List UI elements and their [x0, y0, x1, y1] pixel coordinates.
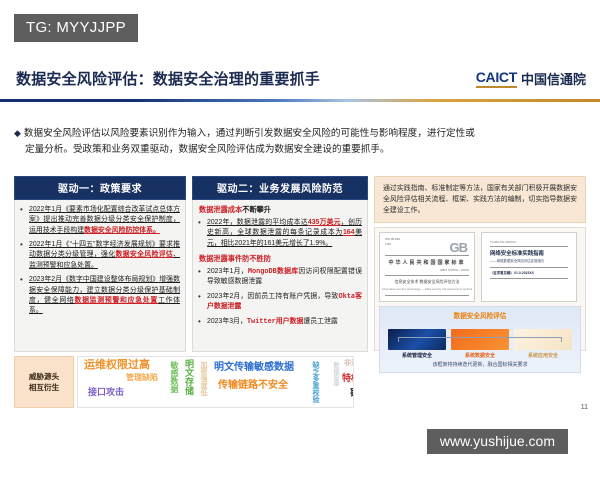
threat-word: 窃听 [350, 389, 354, 399]
item-highlight: 435万美元 [308, 219, 341, 226]
breach-events-list: 2023年1月，MongoDB数据库因访问权限配置错误导致敏感数据泄露 2023… [198, 267, 362, 327]
list-item: 2022年，数据泄露的平均成本达435万美元，创历史新高，全球数据泄露的每条记录… [198, 218, 362, 249]
doc2-title: 网络安全标准实践指南 [490, 249, 544, 257]
doc1-subject: 信息安全技术 数据安全风险评估方法 [380, 279, 474, 285]
threat-word: 缺乏多重校验 [312, 361, 319, 403]
gb-mark-icon: GB [450, 240, 468, 255]
page-number: 11 [581, 404, 588, 411]
breach-cost-list: 2022年，数据泄露的平均成本达435万美元，创历史新高，全球数据泄露的每条记录… [198, 218, 362, 249]
list-item: 2023年2月《数字中国建设整体布局规划》增强数据安全保障能力，建立数据分类分级… [20, 275, 180, 316]
framework-label: 系统管理安全 [388, 352, 446, 359]
threat-word: 特权盗用 [342, 374, 354, 383]
framework-footnote: 该框架将持续迭代更新，融合国标相关要求 [384, 361, 576, 368]
framework-item-data[interactable]: 系统数据安全 [451, 329, 509, 359]
column-policy-drivers: 驱动一：政策要求 2022年1月《要素市场化配置综合改革试点总体方案》提出推动完… [14, 176, 186, 352]
doc1-english-title: Information security technology — Data s… [380, 287, 474, 291]
threat-word: 数据投毒 [332, 362, 338, 386]
doc1-standard-number: GB/T XXXXX—XXXX [440, 269, 469, 273]
threat-word: 明文传输敏感数据 [214, 363, 294, 373]
threat-word-cloud: 运维权限过高管理缺陷接口攻击敏感数据明文存储加密强度低明文传输敏感数据传输链路不… [77, 356, 354, 408]
slide-header: 数据安全风险评估：数据安全治理的重要抓手 CAICT 中国信通院 [0, 60, 600, 100]
document-thumbnail-practice-guide[interactable]: TC260-PG-2023XX 网络安全标准实践指南 ——网络数据安全风险评估实… [481, 232, 577, 302]
threat-label-line2: 相互衍生 [29, 383, 59, 392]
threat-label-line1: 威胁源头 [29, 372, 59, 381]
three-column-area: 驱动一：政策要求 2022年1月《要素市场化配置综合改革试点总体方案》提出推动完… [14, 176, 586, 352]
item-text: 2022年，数据泄露的平均成本达 [207, 219, 308, 226]
doc1-title: 中华人民共和国国家标准 [380, 259, 474, 266]
watermark-tag-top: TG: MYYJJPP [14, 14, 138, 42]
diamond-bullet-icon: ◆ [14, 128, 21, 138]
caict-logo: CAICT 中国信通院 [476, 69, 586, 88]
item-highlight-2: 164 [343, 229, 355, 236]
threat-word: 接口攻击 [88, 388, 124, 397]
doc2-subtitle: ——网络数据安全风险评估实施指引 [490, 258, 544, 263]
item-text: 2023年3月， [207, 318, 247, 325]
intro-paragraph: ◆数据安全风险评估以风险要素识别作为输入，通过判断引发数据安全风险的可能性与影响… [14, 126, 586, 158]
breach-events-subheading: 数据泄露事件防不胜防 [199, 254, 362, 264]
watermark-url: www.yushijue.com [427, 429, 568, 454]
framework-item-application[interactable]: 系统应用安全 [514, 329, 572, 359]
column-business-risk: 驱动二：业务发展风险防范 数据泄露成本不断攀升 2022年，数据泄露的平均成本达… [192, 176, 368, 352]
doc2-code: TC260-PG-2023XX [490, 240, 516, 244]
list-item: 2022年1月《要素市场化配置综合改革试点总体方案》提出推动完善数据分级分类安全… [20, 205, 180, 236]
threat-word: 非法访问 [344, 360, 354, 367]
item-text: 2023年2月，因前员工持有账户凭据，导致 [207, 293, 338, 300]
intro-line-1: ◆数据安全风险评估以风险要素识别作为输入，通过判断引发数据安全风险的可能性与影响… [14, 126, 586, 142]
intro-text-2: 定量分析。受政策和业务双重驱动，数据安全风险评估成为数据安全建设的重要抓手。 [14, 142, 586, 158]
page-title: 数据安全风险评估：数据安全治理的重要抓手 [16, 68, 320, 89]
threat-word: 管理缺陷 [126, 374, 158, 382]
item-highlight: 数据监测预警和应急处置 [75, 297, 158, 304]
threat-word: 传输链路不安全 [218, 381, 288, 391]
subheading-red: 数据泄露成本 [199, 205, 242, 214]
threat-word: 明文存储 [184, 359, 193, 395]
list-item: 2023年2月，因前员工持有账户凭据，导致Okta客户数据泄露 [198, 292, 362, 313]
standards-panel: ICS 35.040 L 80 GB 中华人民共和国国家标准 GB/T XXXX… [374, 227, 586, 351]
document-thumbnails: ICS 35.040 L 80 GB 中华人民共和国国家标准 GB/T XXXX… [379, 232, 581, 302]
doc1-class-code: L 80 [385, 243, 391, 247]
threat-word: 加密强度低 [200, 361, 207, 396]
item-highlight: MongoDB数据库 [248, 268, 298, 276]
column-b-body: 数据泄露成本不断攀升 2022年，数据泄露的平均成本达435万美元，创历史新高，… [192, 200, 368, 352]
slide-canvas: 数据安全风险评估：数据安全治理的重要抓手 CAICT 中国信通院 ◆数据安全风险… [0, 60, 600, 420]
doc2-version: （征求意见稿）V1.0-2023XX [490, 270, 534, 275]
column-a-body: 2022年1月《要素市场化配置综合改革试点总体方案》提出推动完善数据分级分类安全… [14, 200, 186, 352]
intro-text-1: 数据安全风险评估以风险要素识别作为输入，通过判断引发数据安全风险的可能性与影响程… [24, 128, 475, 139]
threat-word: 运维权限过高 [84, 360, 150, 371]
column-b-heading: 驱动二：业务发展风险防范 [192, 176, 368, 200]
list-item: 2022年1月《“十四五”数字经济发展规划》要求推动数据分类分级管理，强化数据安… [20, 240, 180, 271]
framework-connector-lines [398, 337, 562, 342]
column-standards: 通过实践指南、标准制定等方法，国家有关部门积极开展数据安全风险评估相关流程、框架… [374, 176, 586, 351]
framework-item-management[interactable]: 系统管理安全 [388, 329, 446, 359]
threat-source-band: 威胁源头 相互衍生 运维权限过高管理缺陷接口攻击敏感数据明文存储加密强度低明文传… [14, 356, 354, 408]
threat-word: 敏感数据 [170, 361, 178, 393]
framework-diagram: 数据安全风险评估 系统管理安全 系统数据安全 [379, 306, 581, 373]
item-highlight: Twitter用户数据 [247, 318, 304, 326]
column-a-heading: 驱动一：政策要求 [14, 176, 186, 200]
framework-label: 系统数据安全 [451, 352, 509, 359]
framework-label: 系统应用安全 [514, 352, 572, 359]
breach-cost-subheading: 数据泄露成本不断攀升 [199, 205, 362, 215]
logo-latin-text: CAICT [476, 69, 517, 88]
list-item: 2023年3月，Twitter用户数据遭员工泄露 [198, 317, 362, 327]
list-item: 2023年1月，MongoDB数据库因访问权限配置错误导致敏感数据泄露 [198, 267, 362, 288]
item-highlight: 数据安全风险防控体系。 [84, 227, 160, 234]
policy-list: 2022年1月《要素市场化配置综合改革试点总体方案》提出推动完善数据分级分类安全… [20, 205, 180, 317]
item-text-tail: 遭员工泄露 [303, 318, 337, 325]
item-highlight: 数据安全风险评估 [115, 251, 173, 258]
document-thumbnail-gb-standard[interactable]: ICS 35.040 L 80 GB 中华人民共和国国家标准 GB/T XXXX… [379, 232, 475, 302]
header-divider [0, 99, 600, 102]
item-text: 2023年1月， [207, 268, 248, 275]
framework-title: 数据安全风险评估 [384, 310, 576, 320]
subheading-black: 不断攀升 [242, 205, 271, 214]
threat-source-label: 威胁源头 相互衍生 [14, 356, 74, 408]
standards-note: 通过实践指南、标准制定等方法，国家有关部门积极开展数据安全风险评估相关流程、框架… [374, 176, 586, 223]
logo-chinese-text: 中国信通院 [521, 69, 586, 88]
